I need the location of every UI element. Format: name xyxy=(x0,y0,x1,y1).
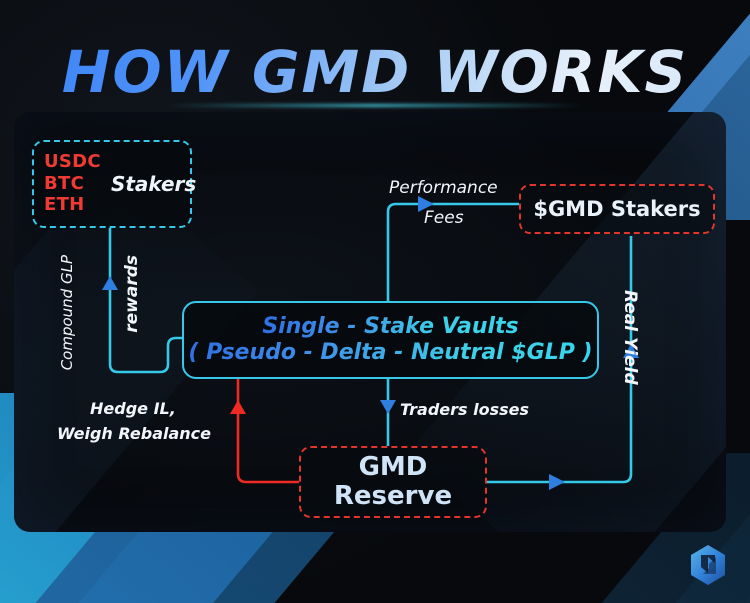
edge-label-traders-losses: Traders losses xyxy=(400,400,529,419)
page-title: HOW GMD WORKS xyxy=(0,43,750,101)
ticker-list: USDC BTC ETH xyxy=(44,153,101,216)
edge-label-rewards: rewards xyxy=(122,255,142,333)
reserve-label-line2: Reserve xyxy=(334,482,452,511)
ticker-usdc: USDC xyxy=(44,153,101,172)
vault-title-line1: Single - Stake Vaults xyxy=(262,314,518,340)
ticker-eth: ETH xyxy=(44,196,101,215)
edge-label-real-yield: Real Yield xyxy=(620,290,640,385)
node-stakers[interactable]: USDC BTC ETH Stakers xyxy=(32,140,192,228)
edge-label-weigh-rebalance: Weigh Rebalance xyxy=(57,424,211,443)
edge-label-performance: Performance xyxy=(389,178,498,198)
title-glow-underline xyxy=(165,104,585,107)
gmd-stakers-label: $GMD Stakers xyxy=(533,197,700,221)
diagram-canvas: HOW GMD WORKS USDC xyxy=(0,0,750,603)
node-single-stake-vaults[interactable]: Single - Stake Vaults ( Pseudo - Delta -… xyxy=(182,301,599,379)
node-gmd-stakers[interactable]: $GMD Stakers xyxy=(519,184,715,234)
edge-label-compound-glp: Compound GLP xyxy=(58,255,76,370)
node-gmd-reserve[interactable]: GMD Reserve xyxy=(299,446,487,518)
hexagon-brand-logo-icon xyxy=(688,543,728,587)
edge-label-hedge-il: Hedge IL, xyxy=(90,399,176,418)
edge-label-fees: Fees xyxy=(424,208,464,228)
reserve-label-line1: GMD xyxy=(359,453,428,482)
vault-title-line2: ( Pseudo - Delta - Neutral $GLP ) xyxy=(188,340,592,366)
ticker-btc: BTC xyxy=(44,175,101,194)
stakers-label: Stakers xyxy=(111,172,196,196)
